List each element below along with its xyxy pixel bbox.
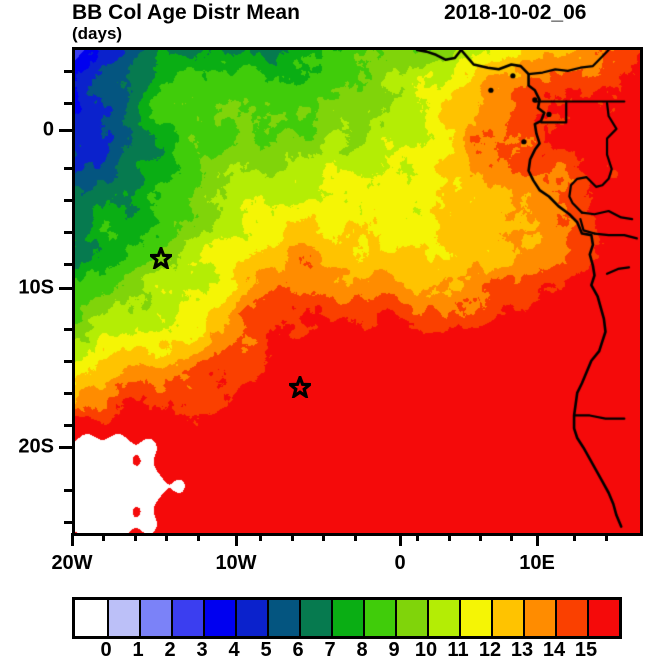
xtick-minor [354,533,357,541]
colorbar-cell-4 [203,600,235,636]
ytick-major-20S [59,446,72,449]
colorbar-tick-10: 10 [415,639,437,662]
xtick-minor [197,533,200,541]
ytick-minor [64,328,72,331]
ytick-minor [64,102,72,105]
colorbar-tick-4: 4 [228,639,239,662]
colorbar-cell-3 [171,600,203,636]
xtick-major-10E [536,533,539,546]
xtick-minor [291,533,294,541]
colorbar-tick-15: 15 [575,639,597,662]
xtick-minor [479,533,482,541]
xtick-major-20W [71,533,74,546]
colorbar-tick-13: 13 [511,639,533,662]
xtick-minor [416,533,419,541]
colorbar-cell-12 [459,600,491,636]
station-marker-1 [150,247,172,269]
colorbar-cell-13 [491,600,523,636]
timestamp-label: 2018-10-02_06 [444,1,586,25]
ytick-minor [64,424,72,427]
colorbar-cell-7 [299,600,331,636]
station-marker-2 [289,376,311,398]
ytick-label-20S: 20S [18,436,54,459]
xtick-major-0 [399,533,402,546]
ytick-minor [64,360,72,363]
colorbar-tick-9: 9 [388,639,399,662]
heatmap-canvas [75,50,640,533]
colorbar [72,597,622,639]
ytick-major-10S [59,287,72,290]
xtick-minor [259,533,262,541]
map-plot-frame [72,47,643,536]
colorbar-cell-9 [363,600,395,636]
xtick-major-10W [235,533,238,546]
xtick-minor [165,533,168,541]
colorbar-cell-2 [139,600,171,636]
ytick-minor [64,263,72,266]
ytick-minor [64,392,72,395]
page-title: BB Col Age Distr Mean [72,1,300,25]
xtick-label-20W: 20W [51,552,92,575]
ytick-label-10S: 10S [18,277,54,300]
colorbar-tick-0: 0 [100,639,111,662]
xtick-minor [510,533,513,541]
ytick-minor [64,521,72,524]
colorbar-cell-8 [331,600,363,636]
xtick-minor [448,533,451,541]
xtick-label-10W: 10W [215,552,256,575]
colorbar-cell-10 [395,600,427,636]
colorbar-cell-1 [107,600,139,636]
colorbar-cell-11 [427,600,459,636]
colorbar-cell-0 [75,600,107,636]
xtick-minor [322,533,325,541]
colorbar-tick-12: 12 [479,639,501,662]
ytick-minor [64,199,72,202]
xtick-minor [102,533,105,541]
colorbar-tick-2: 2 [164,639,175,662]
colorbar-tick-11: 11 [447,639,468,662]
colorbar-tick-8: 8 [356,639,367,662]
units-label: (days) [72,24,122,44]
colorbar-tick-6: 6 [292,639,303,662]
ytick-minor [64,489,72,492]
colorbar-tick-5: 5 [260,639,271,662]
colorbar-cell-6 [267,600,299,636]
colorbar-tick-1: 1 [132,639,143,662]
ytick-minor [64,167,72,170]
xtick-minor [134,533,137,541]
colorbar-cell-5 [235,600,267,636]
colorbar-tick-14: 14 [543,639,565,662]
ytick-major-0 [59,129,72,132]
colorbar-cell-15 [555,600,587,636]
xtick-label-10E: 10E [519,552,555,575]
xtick-minor [605,533,608,541]
colorbar-cell-14 [523,600,555,636]
ytick-label-0: 0 [43,119,54,142]
colorbar-cell-16 [587,600,619,636]
colorbar-tick-3: 3 [196,639,207,662]
xtick-label-0: 0 [394,552,405,575]
xtick-minor [573,533,576,541]
ytick-minor [64,70,72,73]
ytick-minor [64,231,72,234]
colorbar-tick-7: 7 [324,639,335,662]
